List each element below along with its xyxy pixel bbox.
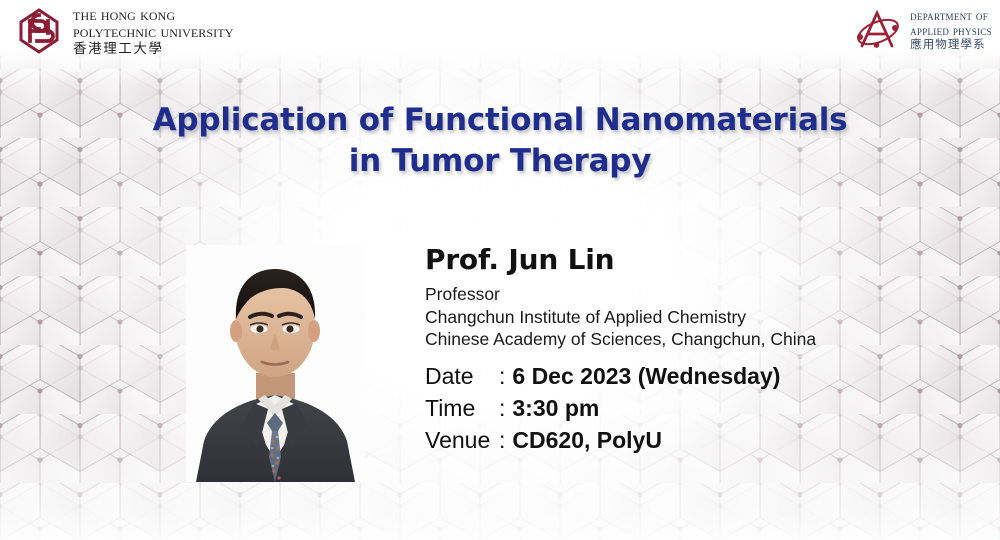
department-wordmark: Department of Applied Physics 應用物理學系 bbox=[910, 8, 992, 52]
atom-orbital-a-icon bbox=[853, 6, 903, 54]
speaker-name: Prof. Jun Lin bbox=[425, 243, 816, 277]
university-name-line2: Polytechnic University bbox=[73, 23, 233, 40]
detail-row-time: Time : 3:30 pm bbox=[425, 392, 816, 424]
time-separator: : bbox=[499, 392, 512, 424]
seminar-title: Application of Functional Nanomaterials … bbox=[0, 100, 1000, 182]
polyu-knot-emblem-icon bbox=[14, 6, 64, 56]
speaker-affiliation-line2: Chinese Academy of Sciences, Changchun, … bbox=[425, 328, 816, 351]
speaker-info: Prof. Jun Lin Professor Changchun Instit… bbox=[425, 243, 816, 456]
date-label: Date bbox=[425, 360, 499, 392]
speaker-affiliation-line1: Changchun Institute of Applied Chemistry bbox=[425, 306, 816, 329]
venue-separator: : bbox=[499, 424, 512, 456]
department-name-line2: Applied Physics bbox=[910, 23, 992, 38]
detail-row-date: Date : 6 Dec 2023 (Wednesday) bbox=[425, 360, 816, 392]
event-details: Date : 6 Dec 2023 (Wednesday) Time : 3:3… bbox=[425, 360, 816, 456]
venue-value: CD620, PolyU bbox=[512, 424, 662, 456]
title-line-1: Application of Functional Nanomaterials bbox=[0, 100, 1000, 141]
university-logo-block: The Hong Kong Polytechnic University 香港理… bbox=[14, 6, 233, 56]
poster-header: The Hong Kong Polytechnic University 香港理… bbox=[0, 0, 1000, 66]
department-logo-block: Department of Applied Physics 應用物理學系 bbox=[853, 6, 992, 54]
speaker-portrait-photo bbox=[186, 245, 365, 482]
speaker-role: Professor bbox=[425, 283, 816, 306]
time-value: 3:30 pm bbox=[512, 392, 599, 424]
university-name-chinese: 香港理工大學 bbox=[73, 42, 233, 56]
venue-label: Venue bbox=[425, 424, 499, 456]
seminar-poster: The Hong Kong Polytechnic University 香港理… bbox=[0, 0, 1000, 540]
university-name-line1: The Hong Kong bbox=[73, 6, 233, 23]
speaker-affiliation: Professor Changchun Institute of Applied… bbox=[425, 283, 816, 351]
department-name-line1: Department of bbox=[910, 8, 992, 23]
date-separator: : bbox=[499, 360, 512, 392]
department-name-chinese: 應用物理學系 bbox=[910, 39, 992, 52]
date-value: 6 Dec 2023 (Wednesday) bbox=[512, 360, 780, 392]
detail-row-venue: Venue : CD620, PolyU bbox=[425, 424, 816, 456]
title-line-2: in Tumor Therapy bbox=[0, 141, 1000, 182]
portrait-illustration bbox=[186, 245, 365, 482]
university-wordmark: The Hong Kong Polytechnic University 香港理… bbox=[73, 6, 233, 55]
time-label: Time bbox=[425, 392, 499, 424]
